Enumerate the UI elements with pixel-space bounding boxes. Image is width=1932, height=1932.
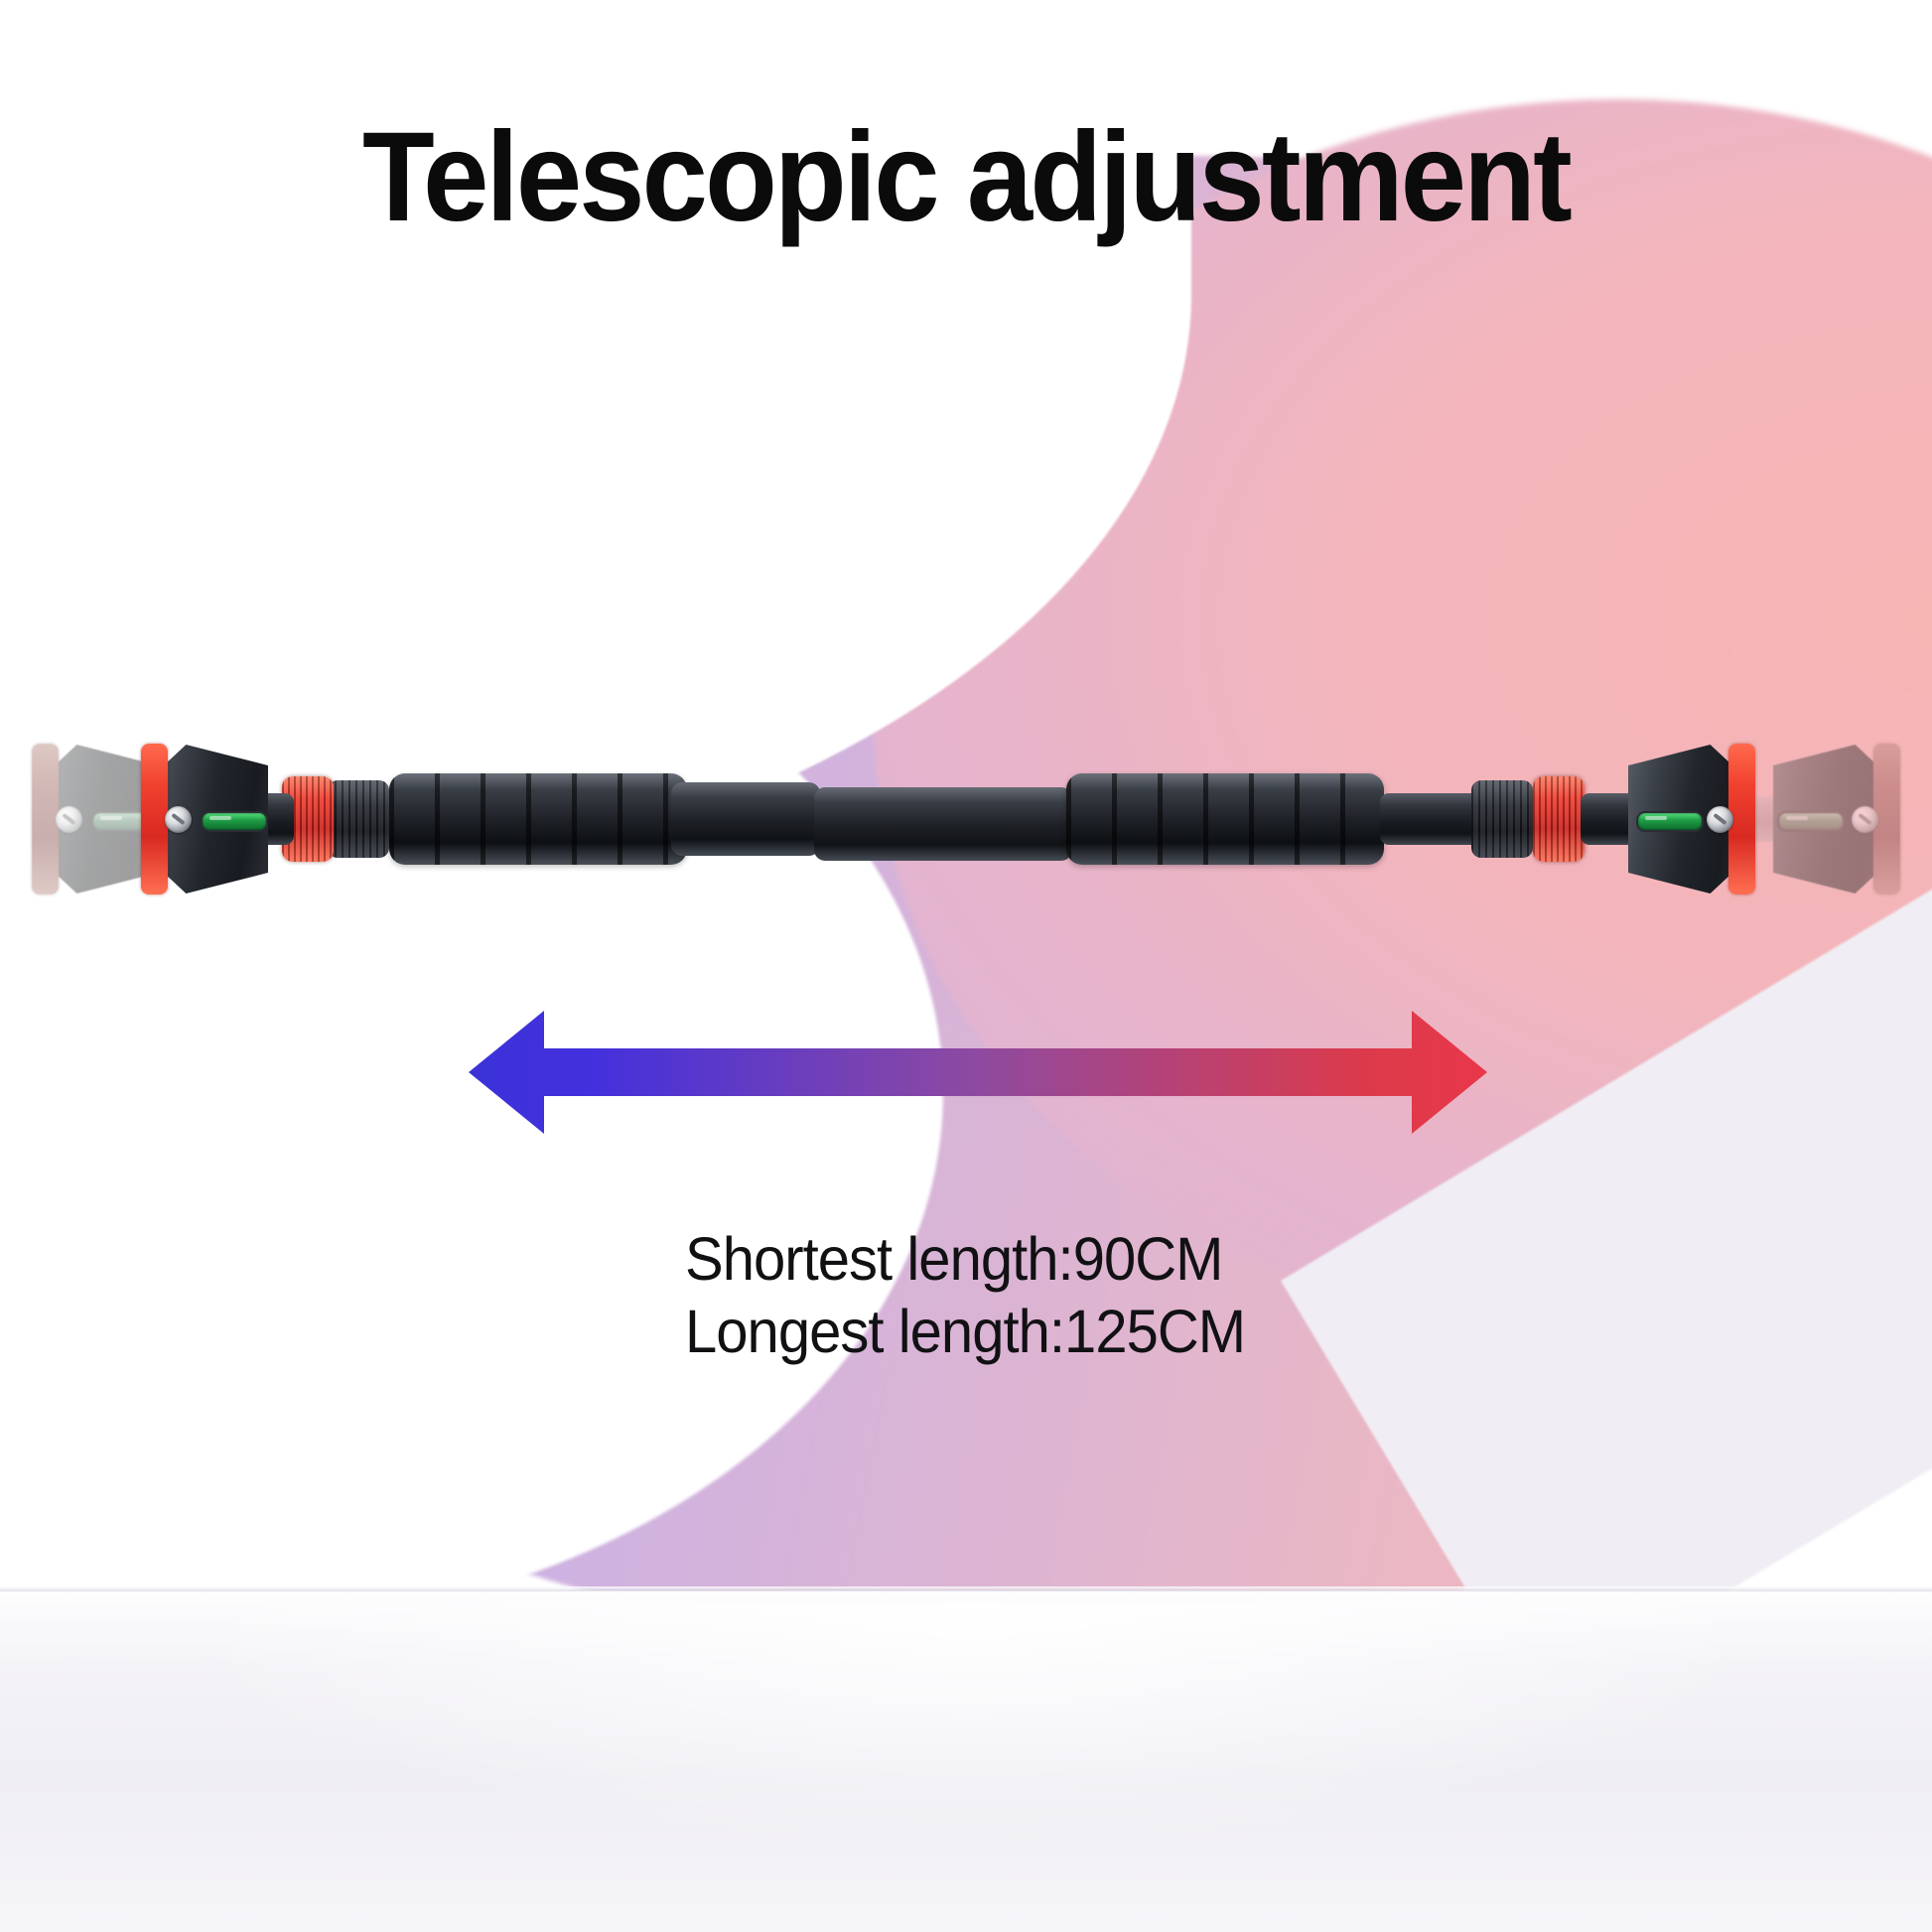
- screw-left: [165, 806, 192, 833]
- spec-longest-length: Longest length:125CM: [685, 1296, 1245, 1368]
- arrow-shape: [469, 1011, 1487, 1134]
- ghost-pad-left: [32, 744, 59, 895]
- lock-nut-left: [328, 780, 389, 858]
- marketing-image-canvas: Telescopic adjustment: [0, 0, 1932, 1932]
- lock-nut-right: [1471, 780, 1533, 858]
- ghost-screw-right: [1852, 806, 1878, 833]
- foam-grip-right: [1066, 773, 1384, 865]
- telescoping-sleeve-left: [671, 782, 820, 856]
- red-collar-right: [1533, 776, 1585, 862]
- product-illustration: [0, 0, 1932, 1932]
- double-headed-resize-arrow: [467, 993, 1489, 1152]
- foam-grip-left: [389, 773, 687, 865]
- telescoping-sleeve-center: [814, 787, 1072, 861]
- rubber-pad-left: [141, 744, 168, 895]
- ghost-level-right: [1777, 811, 1845, 832]
- bubble-level-left: [201, 811, 268, 832]
- screw-right: [1707, 806, 1733, 833]
- bubble-level-right: [1636, 811, 1704, 832]
- spec-text-block: Shortest length:90CM Longest length:125C…: [685, 1223, 1275, 1368]
- ghost-screw-left: [56, 806, 82, 833]
- spec-shortest-length: Shortest length:90CM: [685, 1223, 1245, 1296]
